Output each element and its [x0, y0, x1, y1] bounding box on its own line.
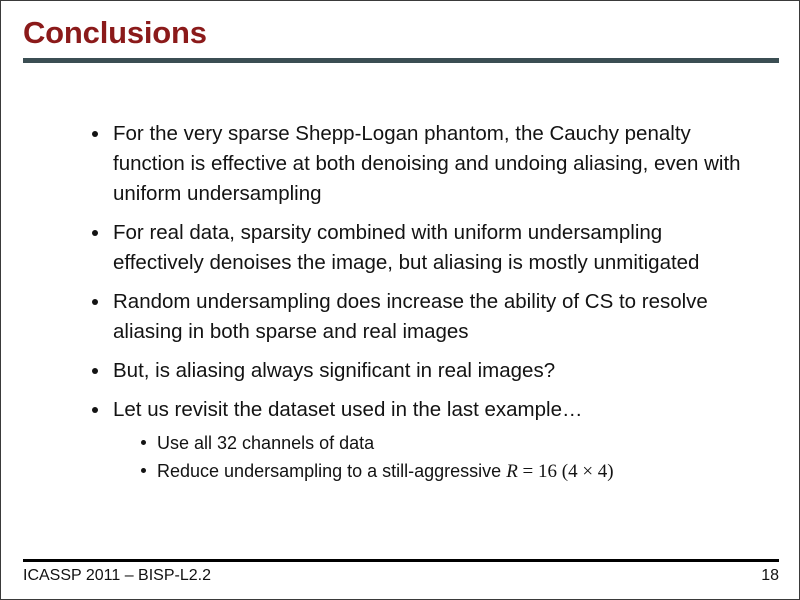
sub-bullet-list: Use all 32 channels of data Reduce under… [113, 429, 749, 486]
math-variable-r: R [506, 461, 518, 482]
bullet-text: Let us revisit the dataset used in the l… [113, 395, 749, 425]
sub-bullet-text: Use all 32 channels of data [157, 433, 374, 453]
list-item: For real data, sparsity combined with un… [89, 218, 749, 278]
bullet-text: Random undersampling does increase the a… [113, 287, 749, 347]
title-divider [23, 58, 779, 63]
slide-footer: ICASSP 2011 – BISP-L2.2 18 [23, 567, 779, 585]
sub-bullet-text: Reduce undersampling to a still-aggressi… [157, 461, 506, 481]
list-item: But, is aliasing always significant in r… [89, 356, 749, 386]
math-expression: = 16 (4 × 4) [518, 461, 614, 482]
bullet-text: But, is aliasing always significant in r… [113, 356, 749, 386]
list-item: Let us revisit the dataset used in the l… [89, 395, 749, 486]
presentation-slide: Conclusions For the very sparse Shepp-Lo… [0, 0, 800, 600]
footer-conference-label: ICASSP 2011 – BISP-L2.2 [23, 567, 211, 585]
bullet-list: For the very sparse Shepp-Logan phantom,… [89, 119, 749, 486]
slide-title-area: Conclusions [23, 15, 779, 51]
bullet-text: For real data, sparsity combined with un… [113, 218, 749, 278]
slide-page-number: 18 [761, 567, 779, 585]
footer-divider [23, 559, 779, 562]
bullet-text: For the very sparse Shepp-Logan phantom,… [113, 119, 749, 209]
slide-body: For the very sparse Shepp-Logan phantom,… [89, 119, 749, 495]
sub-list-item: Use all 32 channels of data [139, 429, 749, 457]
list-item: Random undersampling does increase the a… [89, 287, 749, 347]
list-item: For the very sparse Shepp-Logan phantom,… [89, 119, 749, 209]
page-title: Conclusions [23, 15, 779, 51]
sub-list-item: Reduce undersampling to a still-aggressi… [139, 457, 749, 486]
